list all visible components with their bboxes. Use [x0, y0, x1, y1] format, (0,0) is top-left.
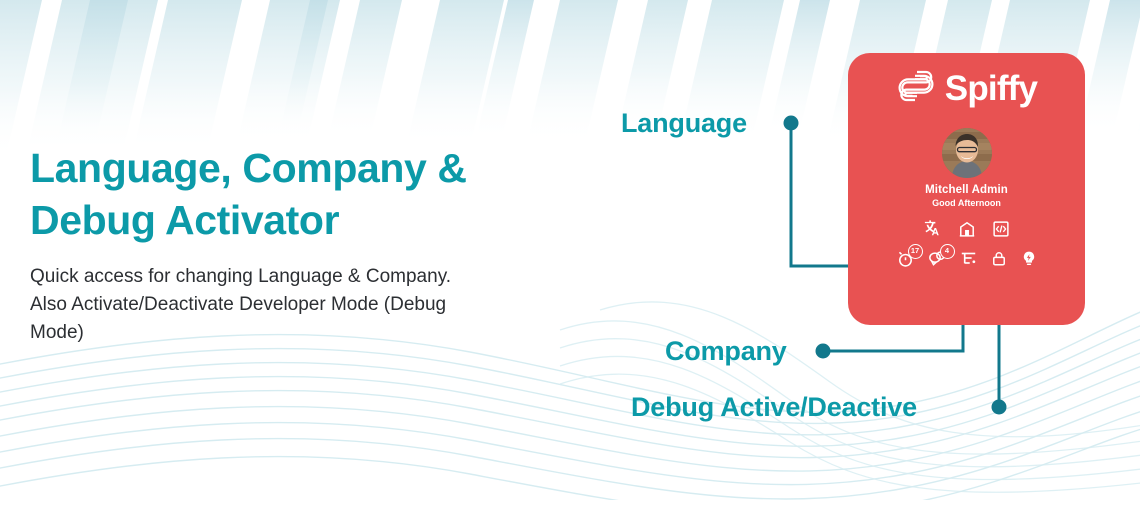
user-greeting: Good Afternoon	[848, 198, 1085, 208]
callout-label-language: Language	[621, 108, 747, 139]
code-debug-icon[interactable]	[992, 220, 1010, 243]
page-description: Quick access for changing Language & Com…	[30, 263, 490, 347]
system-tray-icon-row: 17 4	[848, 249, 1085, 273]
messages-chat-icon[interactable]: 4	[927, 249, 947, 273]
page-title: Language, Company & Debug Activator	[30, 142, 550, 247]
user-name: Mitchell Admin	[848, 184, 1085, 196]
brand-logo-row: Spiffy	[848, 67, 1085, 110]
activity-badge-count: 17	[908, 244, 923, 259]
sitemap-filter-icon[interactable]	[959, 249, 978, 273]
callout-label-company: Company	[665, 336, 787, 367]
user-avatar-photo	[942, 128, 992, 178]
quick-action-icon-row	[848, 221, 1085, 241]
lock-icon[interactable]	[990, 249, 1008, 273]
callout-label-debug: Debug Active/Deactive	[631, 392, 917, 423]
spiffy-user-card: Spiffy Mitchell Adm	[848, 53, 1085, 325]
company-building-icon[interactable]	[958, 220, 976, 243]
translate-language-icon[interactable]	[923, 219, 942, 243]
spiffy-s-logo-icon	[896, 67, 936, 110]
lightbulb-icon[interactable]	[1020, 249, 1038, 273]
messages-badge-count: 4	[940, 244, 955, 259]
activity-clock-icon[interactable]: 17	[896, 249, 915, 273]
brand-name: Spiffy	[945, 71, 1037, 106]
